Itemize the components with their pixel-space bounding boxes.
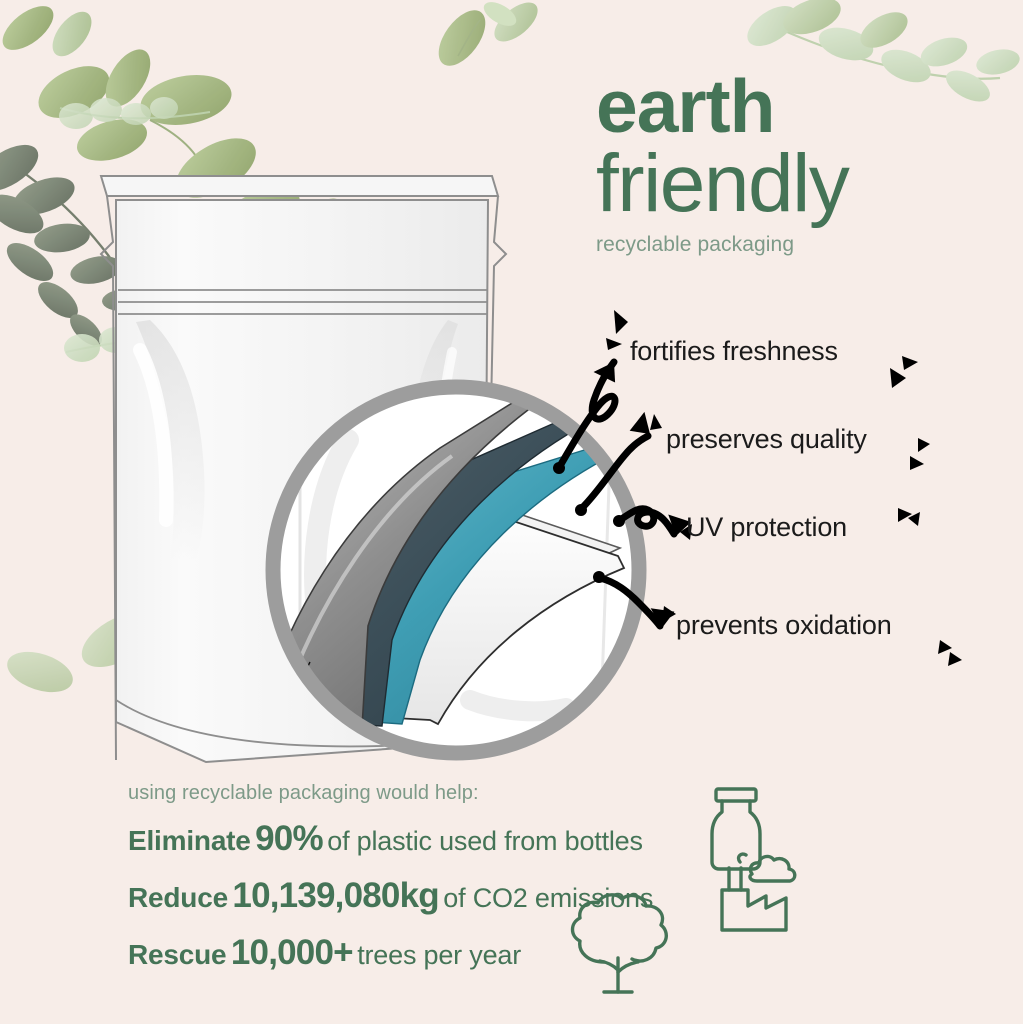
infographic-canvas: earth friendly recyclable packaging fort… [0, 0, 1023, 1024]
tree-icon [573, 895, 667, 992]
stat-icons [0, 0, 1023, 1024]
bottle-icon [712, 789, 760, 869]
